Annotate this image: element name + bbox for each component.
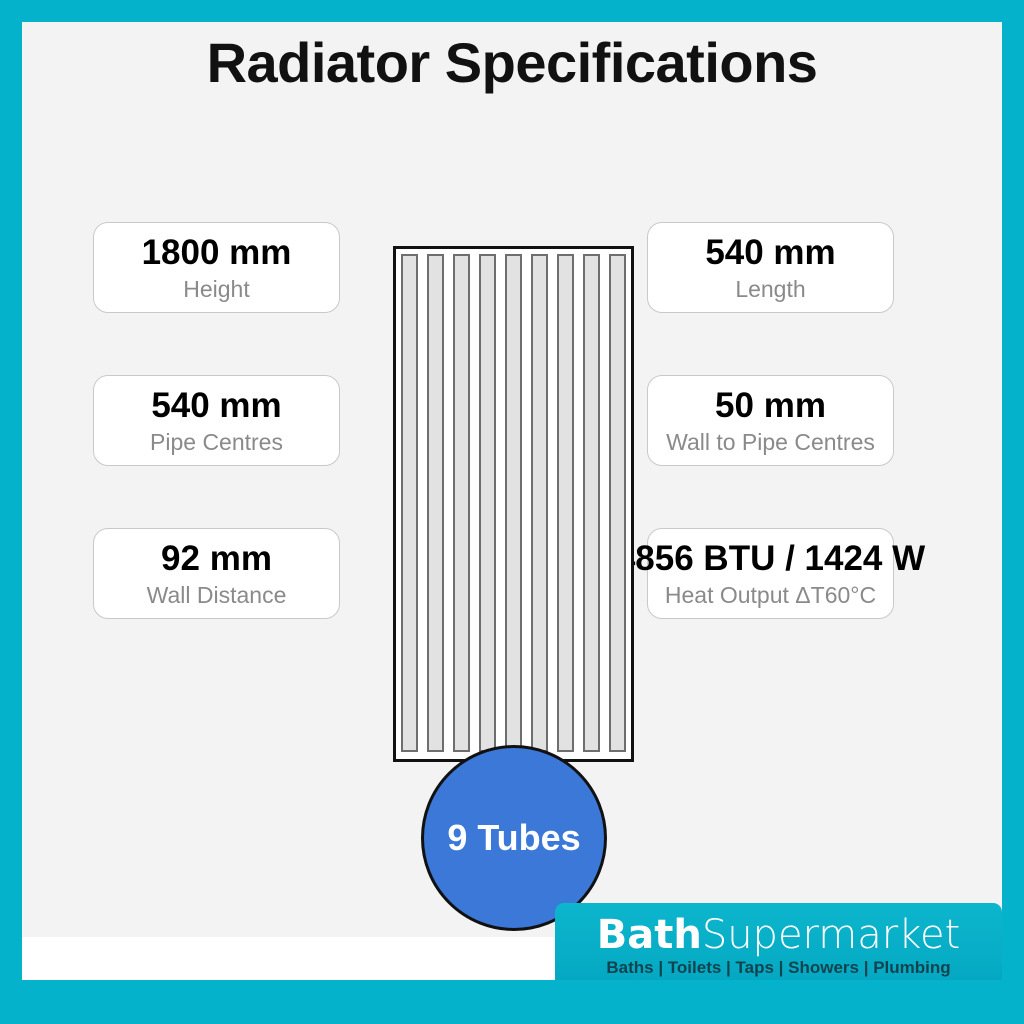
radiator-tube (583, 254, 600, 752)
spec-label-pipe-centres: Pipe Centres (94, 427, 339, 457)
spec-label-height: Height (94, 274, 339, 304)
brand-tagline: Baths | Toilets | Taps | Showers | Plumb… (555, 957, 1002, 979)
radiator-tube (531, 254, 548, 752)
spec-label-length: Length (648, 274, 893, 304)
spec-card-length: 540 mm Length (647, 222, 894, 313)
spec-card-heat-output: 4856 BTU / 1424 W Heat Output ΔT60°C (647, 528, 894, 619)
spec-card-height: 1800 mm Height (93, 222, 340, 313)
spec-card-pipe-centres: 540 mm Pipe Centres (93, 375, 340, 466)
radiator-tube (505, 254, 522, 752)
spec-value-pipe-centres: 540 mm (94, 385, 339, 427)
brand-name-bold: Bath (597, 912, 702, 958)
spec-value-height: 1800 mm (94, 232, 339, 274)
spec-card-wall-distance: 92 mm Wall Distance (93, 528, 340, 619)
radiator-tube (609, 254, 626, 752)
brand-name-light: Supermarket (702, 912, 960, 958)
radiator-tube-group (401, 254, 626, 752)
brand-logo-panel: BathSupermarket Baths | Toilets | Taps |… (555, 903, 1002, 980)
spec-label-wall-distance: Wall Distance (94, 580, 339, 610)
radiator-tube (479, 254, 496, 752)
radiator-diagram (393, 246, 634, 762)
radiator-tube (453, 254, 470, 752)
radiator-tube (401, 254, 418, 752)
brand-wordmark: BathSupermarket (555, 913, 1002, 957)
radiator-spec-infographic: Radiator Specifications 1800 mm Height 5… (0, 0, 1024, 1024)
content-canvas: Radiator Specifications 1800 mm Height 5… (22, 22, 1002, 980)
radiator-tube (557, 254, 574, 752)
tube-count-label: 9 Tubes (447, 817, 580, 859)
radiator-tube (427, 254, 444, 752)
spec-value-length: 540 mm (648, 232, 893, 274)
spec-value-wall-distance: 92 mm (94, 538, 339, 580)
spec-card-wall-to-pipe-centres: 50 mm Wall to Pipe Centres (647, 375, 894, 466)
page-title: Radiator Specifications (22, 30, 1002, 95)
